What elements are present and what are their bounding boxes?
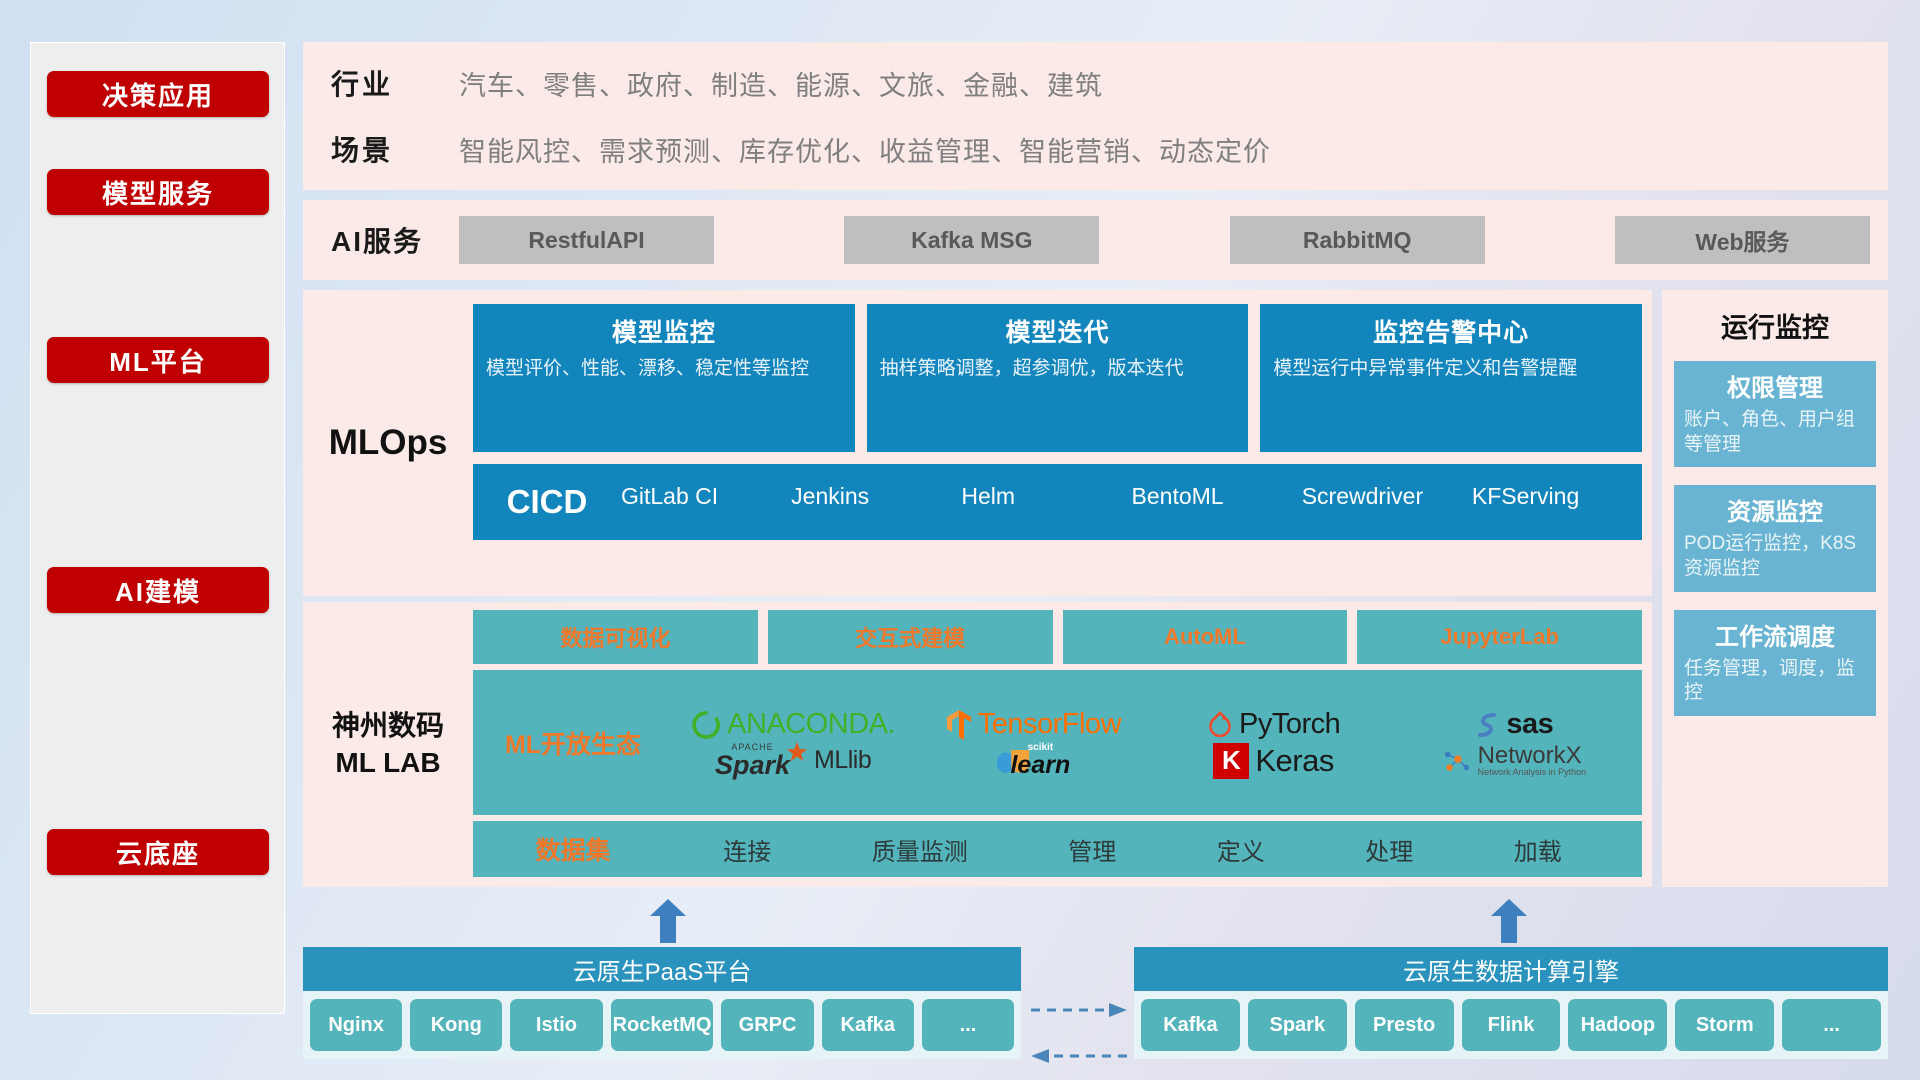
stage-chip-ai-modeling[interactable]: AI建模 (47, 567, 269, 613)
paas-chip-kafka[interactable]: Kafka (822, 999, 914, 1051)
card-title: 资源监控 (1684, 492, 1866, 527)
card-desc: 任务管理，调度，监控 (1684, 657, 1866, 706)
spark-mllib-logo: APACHE Spark MLlib (715, 743, 871, 779)
paas-chip-rocketmq[interactable]: RocketMQ (611, 999, 714, 1051)
runtime-monitor-column: 运行监控 权限管理 账户、角色、用户组等管理 资源监控 POD运行监控，K8S资… (1662, 290, 1888, 887)
ml-lab-label: 神州数码 ML LAB (303, 602, 473, 887)
engine-chip-kafka[interactable]: Kafka (1141, 999, 1240, 1051)
ml-lab-label-line2: ML LAB (335, 745, 440, 781)
mllib-label: MLlib (814, 746, 871, 775)
industry-key: 行业 (331, 63, 459, 103)
engine-chip-presto[interactable]: Presto (1355, 999, 1454, 1051)
stage-chip-model-service[interactable]: 模型服务 (47, 169, 269, 215)
engine-chip-spark[interactable]: Spark (1248, 999, 1347, 1051)
mlops-card-model-monitoring[interactable]: 模型监控 模型评价、性能、漂移、稳定性等监控 (473, 304, 855, 452)
card-title: 监控告警中心 (1273, 313, 1629, 349)
paas-chip-istio[interactable]: Istio (510, 999, 602, 1051)
dataset-item-load[interactable]: 加载 (1514, 832, 1562, 867)
up-arrow-paas-icon (648, 899, 688, 943)
dataset-item-quality-monitoring[interactable]: 质量监测 (872, 832, 968, 867)
mlops-band: MLOps 模型监控 模型评价、性能、漂移、稳定性等监控 模型迭代 抽样策略调整… (303, 290, 1652, 596)
cloud-paas-block: 云原生PaaS平台 Nginx Kong Istio RocketMQ GRPC… (303, 947, 1021, 1059)
ai-service-band: AI服务 RestfulAPI Kafka MSG RabbitMQ Web服务 (303, 200, 1888, 280)
networkx-subtitle: Network Analysis in Python (1478, 768, 1587, 777)
cicd-item-jenkins[interactable]: Jenkins (791, 464, 961, 508)
lab-tool-automl[interactable]: AutoML (1063, 610, 1348, 664)
scenario-row: 场景 智能风控、需求预测、库存优化、收益管理、智能营销、动态定价 (331, 129, 1888, 169)
pytorch-logo: PyTorch (1207, 708, 1340, 741)
ai-service-chip-web[interactable]: Web服务 (1615, 216, 1870, 264)
industry-row: 行业 汽车、零售、政府、制造、能源、文旅、金融、建筑 (331, 63, 1888, 103)
monitor-card-resource[interactable]: 资源监控 POD运行监控，K8S资源监控 (1674, 485, 1876, 591)
ml-lab-label-line1: 神州数码 (332, 708, 444, 744)
scenario-value: 智能风控、需求预测、库存优化、收益管理、智能营销、动态定价 (459, 130, 1271, 169)
stage-chip-decision[interactable]: 决策应用 (47, 71, 269, 117)
networkx-logo: NetworkX Network Analysis in Python (1442, 744, 1587, 777)
cicd-strip: CICD GitLab CI Jenkins Helm BentoML Scre… (473, 464, 1642, 540)
card-title: 权限管理 (1684, 368, 1866, 403)
up-arrow-data-engine-icon (1489, 899, 1529, 943)
engine-chip-storm[interactable]: Storm (1675, 999, 1774, 1051)
ai-service-chip-kafka-msg[interactable]: Kafka MSG (844, 216, 1099, 264)
dataset-item-process[interactable]: 处理 (1365, 832, 1413, 867)
sas-logo: sas (1474, 708, 1553, 741)
keras-k-icon: K (1213, 743, 1249, 779)
pytorch-label: PyTorch (1239, 708, 1340, 741)
mlops-label: MLOps (303, 290, 473, 596)
stage-chip-ml-platform[interactable]: ML平台 (47, 337, 269, 383)
ml-ecosystem-row: ML开放生态 ANACONDA. (473, 670, 1642, 815)
card-desc: 账户、角色、用户组等管理 (1684, 408, 1866, 457)
lab-tool-data-visualization[interactable]: 数据可视化 (473, 610, 758, 664)
dataset-item-define[interactable]: 定义 (1217, 832, 1265, 867)
industry-value: 汽车、零售、政府、制造、能源、文旅、金融、建筑 (459, 64, 1103, 103)
anaconda-label: ANACONDA. (727, 708, 895, 741)
card-desc: 模型运行中异常事件定义和告警提醒 (1273, 356, 1629, 381)
stage-rail: 决策应用 模型服务 ML平台 AI建模 云底座 (30, 42, 285, 1014)
monitor-card-workflow[interactable]: 工作流调度 任务管理，调度，监控 (1674, 610, 1876, 716)
scenario-key: 场景 (331, 129, 459, 169)
card-desc: POD运行监控，K8S资源监控 (1684, 532, 1866, 581)
cloud-data-engine-block: 云原生数据计算引擎 Kafka Spark Presto Flink Hadoo… (1134, 947, 1888, 1059)
cloud-paas-title: 云原生PaaS平台 (303, 947, 1021, 991)
paas-chip-more[interactable]: ... (922, 999, 1014, 1051)
dataset-row: 数据集 连接 质量监测 管理 定义 处理 加载 (473, 821, 1642, 877)
cicd-item-screwdriver[interactable]: Screwdriver (1302, 464, 1472, 508)
paas-chip-nginx[interactable]: Nginx (310, 999, 402, 1051)
engine-chip-hadoop[interactable]: Hadoop (1568, 999, 1667, 1051)
ai-service-label: AI服务 (331, 220, 459, 260)
keras-label: Keras (1255, 743, 1333, 779)
ml-ecosystem-label: ML开放生态 (473, 725, 673, 761)
anaconda-logo: ANACONDA. (691, 708, 895, 741)
lab-tool-jupyterlab[interactable]: JupyterLab (1357, 610, 1642, 664)
ml-lab-band: 神州数码 ML LAB 数据可视化 交互式建模 AutoML JupyterLa… (303, 602, 1652, 887)
mlops-card-alert-center[interactable]: 监控告警中心 模型运行中异常事件定义和告警提醒 (1260, 304, 1642, 452)
bidirectional-dashed-connector (1031, 994, 1127, 1074)
cicd-item-helm[interactable]: Helm (961, 464, 1131, 508)
spark-star-icon (786, 741, 808, 763)
cicd-title: CICD (473, 464, 621, 540)
paas-chip-grpc[interactable]: GRPC (721, 999, 813, 1051)
cicd-item-gitlab-ci[interactable]: GitLab CI (621, 464, 791, 508)
tensorflow-icon (946, 709, 972, 741)
learn-label: learn (1010, 753, 1070, 778)
tensorflow-label: TensorFlow (978, 708, 1121, 741)
mlops-card-model-iteration[interactable]: 模型迭代 抽样策略调整，超参调优，版本迭代 (867, 304, 1249, 452)
dataset-label: 数据集 (473, 831, 673, 867)
industry-scenario-band: 行业 汽车、零售、政府、制造、能源、文旅、金融、建筑 场景 智能风控、需求预测、… (303, 42, 1888, 190)
card-title: 模型监控 (486, 313, 842, 349)
sas-swirl-icon (1474, 710, 1500, 740)
monitor-card-permission[interactable]: 权限管理 账户、角色、用户组等管理 (1674, 361, 1876, 467)
stage-chip-cloud-base[interactable]: 云底座 (47, 829, 269, 875)
cicd-item-bentoml[interactable]: BentoML (1132, 464, 1302, 508)
sas-label: sas (1506, 708, 1553, 741)
scikit-learn-logo: scikit learn (996, 743, 1070, 778)
dataset-item-connect[interactable]: 连接 (723, 832, 771, 867)
dataset-item-manage[interactable]: 管理 (1068, 832, 1116, 867)
cicd-item-kfserving[interactable]: KFServing (1472, 464, 1642, 508)
card-title: 模型迭代 (880, 313, 1236, 349)
spark-wordmark: Spark (715, 752, 790, 779)
card-desc: 抽样策略调整，超参调优，版本迭代 (880, 356, 1236, 381)
networkx-label: NetworkX (1478, 744, 1587, 768)
cloud-data-engine-title: 云原生数据计算引擎 (1134, 947, 1888, 991)
engine-chip-more[interactable]: ... (1782, 999, 1881, 1051)
anaconda-icon (691, 710, 721, 740)
pytorch-icon (1207, 710, 1233, 740)
ai-service-chip-rabbitmq[interactable]: RabbitMQ (1230, 216, 1485, 264)
ai-service-chip-restfulapi[interactable]: RestfulAPI (459, 216, 714, 264)
keras-logo: K Keras (1213, 743, 1333, 779)
card-title: 工作流调度 (1684, 617, 1866, 652)
card-desc: 模型评价、性能、漂移、稳定性等监控 (486, 356, 842, 381)
runtime-monitor-title: 运行监控 (1674, 306, 1876, 345)
tensorflow-logo: TensorFlow (946, 708, 1121, 741)
networkx-graph-icon (1442, 747, 1472, 775)
lab-tool-interactive-modeling[interactable]: 交互式建模 (768, 610, 1053, 664)
paas-chip-kong[interactable]: Kong (410, 999, 502, 1051)
engine-chip-flink[interactable]: Flink (1462, 999, 1561, 1051)
